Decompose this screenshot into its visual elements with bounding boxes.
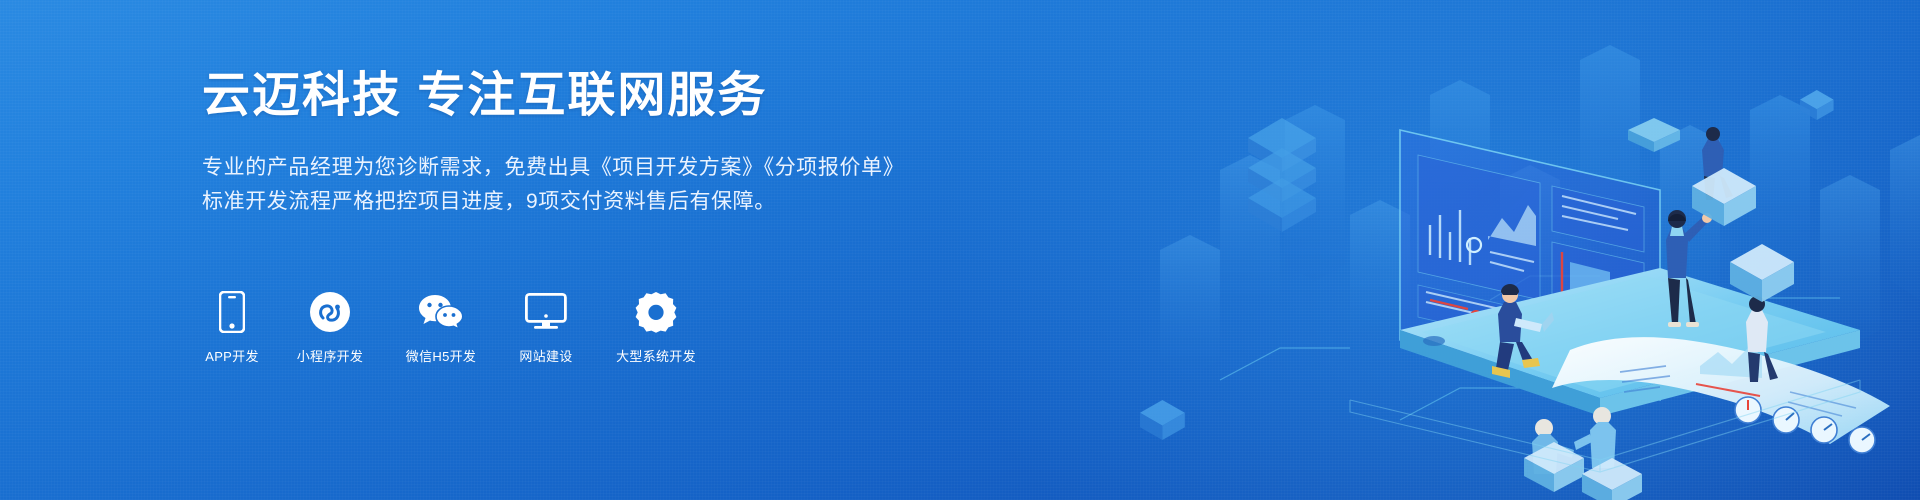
banner-subtitle: 专业的产品经理为您诊断需求，免费出具《项目开发方案》《分项报价单》 标准开发流程…: [202, 151, 902, 219]
page-title: 云迈科技 专注互联网服务: [202, 68, 902, 125]
wechat-icon: [417, 290, 465, 334]
mini-program-icon: [309, 290, 351, 334]
service-icon-row: APP开发 小程序开发: [202, 290, 704, 365]
isometric-data-dashboard-illustration: [1100, 0, 1920, 500]
monitor-icon: [525, 290, 567, 334]
banner-text-block: 云迈科技 专注互联网服务 专业的产品经理为您诊断需求，免费出具《项目开发方案》《…: [202, 68, 902, 219]
subtitle-line-2: 标准开发流程严格把控项目进度，9项交付资料售后有保障。: [202, 185, 902, 219]
mobile-phone-icon: [219, 290, 245, 334]
hero-banner: 云迈科技 专注互联网服务 专业的产品经理为您诊断需求，免费出具《项目开发方案》《…: [0, 0, 1920, 500]
service-label-app: APP开发: [205, 346, 259, 365]
gear-icon: [635, 290, 677, 334]
service-label-mini-program: 小程序开发: [297, 346, 364, 365]
service-label-large-system: 大型系统开发: [616, 346, 696, 365]
service-item-wechat-h5[interactable]: 微信H5开发: [398, 290, 484, 365]
service-item-mini-program[interactable]: 小程序开发: [288, 290, 372, 365]
service-item-app[interactable]: APP开发: [202, 290, 262, 365]
service-label-wechat-h5: 微信H5开发: [406, 346, 476, 365]
service-item-website[interactable]: 网站建设: [510, 290, 582, 365]
service-item-large-system[interactable]: 大型系统开发: [608, 290, 704, 365]
subtitle-line-1: 专业的产品经理为您诊断需求，免费出具《项目开发方案》《分项报价单》: [202, 151, 902, 185]
service-label-website: 网站建设: [519, 346, 572, 365]
